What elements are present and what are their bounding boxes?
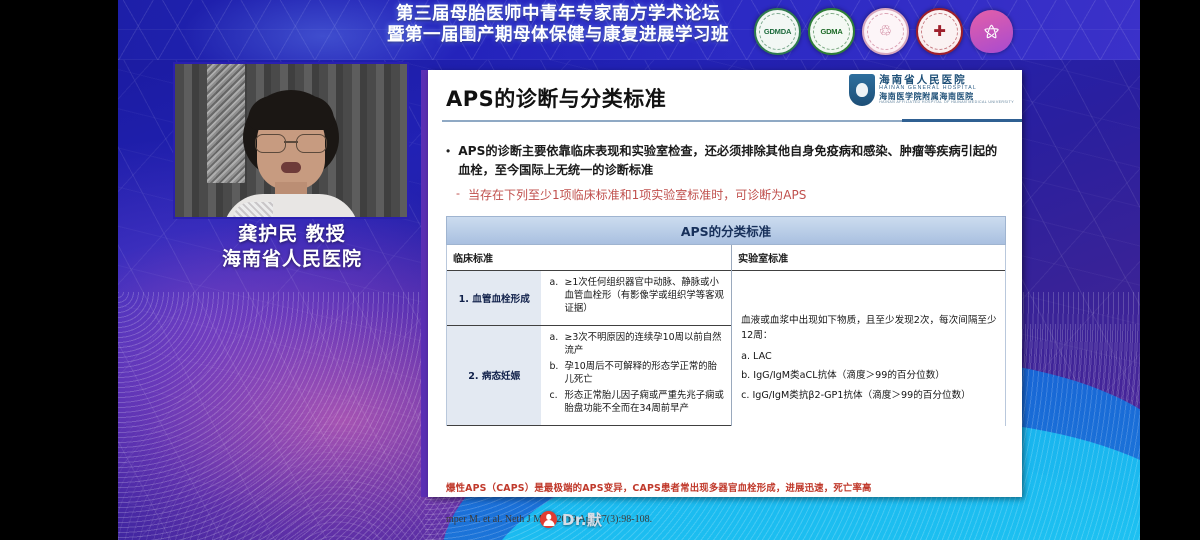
table-row: 2. 病态妊娠 a. ≥3次不明原因的连续孕10周以前自然流产 b. 孕10周后… (447, 326, 731, 426)
dash-marker-icon: - (456, 186, 460, 204)
hospital-logo: 海南省人民医院 HAINAN GENERAL HOSPITAL 海南医学院附属海… (849, 74, 1014, 106)
organizer-logos: GDMDA GDMA ♲ ✚ ⚝ (754, 8, 1013, 55)
maternity-logo: ♲ (862, 8, 909, 55)
table-grid: 临床标准 1. 血管血栓形成 a. ≥1次任何组织器官中动脉、静脉或小血管血栓形… (446, 245, 1006, 426)
laboratory-column-header: 实验室标准 (732, 245, 1005, 271)
maternity-icon: ♲ (879, 24, 892, 39)
presentation-slide: APS的诊断与分类标准 海南省人民医院 HAINAN GENERAL HOSPI… (428, 70, 1022, 497)
classification-table: APS的分类标准 临床标准 1. 血管血栓形成 a. ≥1次任何组织器官中动脉、… (446, 216, 1006, 426)
laboratory-criteria-content: 血液或血浆中出现如下物质，且至少发现2次，每次间隔至少12周： a. LAC b… (732, 271, 1005, 452)
slide-warning-note: 爆性APS（CAPS）是最极端的APS变异，CAPS患者常出现多器官血栓形成，进… (446, 480, 1008, 494)
list-item: a. ≥1次任何组织器官中动脉、静脉或小血管血栓形（有影像学或组织学等客观证据） (549, 277, 725, 316)
bullet-secondary: - 当存在下列至少1项临床标准和1项实验室标准时，可诊断为APS (446, 186, 1006, 204)
item-key: a. (549, 277, 559, 316)
item-key: c. (549, 390, 559, 416)
list-item: c. 形态正常胎儿因子痫或严重先兆子痫或胎盘功能不全而在34周前早产 (549, 390, 725, 416)
item-text: 孕10周后不可解释的形态学正常的胎儿死亡 (564, 361, 725, 387)
bullet-primary-text: APS的诊断主要依靠临床表现和实验室检查，还必须排除其他自身免疫病和感染、肿瘤等… (458, 142, 1006, 179)
row-items: a. ≥3次不明原因的连续孕10周以前自然流产 b. 孕10周后不可解释的形态学… (541, 326, 731, 425)
hospital-shield-icon (849, 74, 875, 106)
speaker-mouth (281, 162, 301, 173)
row-items: a. ≥1次任何组织器官中动脉、静脉或小血管血栓形（有影像学或组织学等客观证据） (541, 271, 731, 325)
gdma-logo-text: GDMA (820, 27, 842, 36)
gdma-logo: GDMA (808, 8, 855, 55)
speaker-affiliation: 海南省人民医院 (152, 247, 432, 272)
bullet-marker-icon: • (446, 142, 450, 179)
event-banner: 第三届母胎医师中青年专家南方学术论坛 暨第一届围产期母体保健与康复进展学习班 G… (118, 0, 1140, 60)
list-item: a. ≥3次不明原因的连续孕10周以前自然流产 (549, 332, 725, 358)
lab-list-item: a. LAC (741, 350, 997, 365)
table-title: APS的分类标准 (446, 216, 1006, 245)
item-text: ≥3次不明原因的连续孕10周以前自然流产 (564, 332, 725, 358)
speaker-caption: 龚护民 教授 海南省人民医院 (152, 222, 432, 273)
bullet-primary: • APS的诊断主要依靠临床表现和实验室检查，还必须排除其他自身免疫病和感染、肿… (446, 142, 1006, 179)
stream-watermark: Dr.默 (540, 509, 602, 530)
table-row: 1. 血管血栓形成 a. ≥1次任何组织器官中动脉、静脉或小血管血栓形（有影像学… (447, 271, 731, 326)
video-curtain (207, 64, 244, 183)
lab-list-item: b. IgG/IgM类aCL抗体（滴度＞99的百分位数） (741, 369, 997, 384)
laboratory-criteria-column: 实验室标准 血液或血浆中出现如下物质，且至少发现2次，每次间隔至少12周： a.… (732, 245, 1005, 426)
shirt-pattern (233, 202, 273, 217)
item-text: ≥1次任何组织器官中动脉、静脉或小血管血栓形（有影像学或组织学等客观证据） (564, 277, 725, 316)
red-cross-logo: ✚ (916, 8, 963, 55)
speaker-video-feed (175, 64, 407, 217)
watermark-avatar-icon (540, 511, 557, 528)
slide-left-accent-bar (421, 70, 428, 497)
speaker-fringe (248, 96, 334, 130)
clinical-criteria-column: 临床标准 1. 血管血栓形成 a. ≥1次任何组织器官中动脉、静脉或小血管血栓形… (447, 245, 732, 426)
row-label: 2. 病态妊娠 (447, 326, 541, 425)
letterbox-left (0, 0, 118, 540)
screen: 第三届母胎医师中青年专家南方学术论坛 暨第一届围产期母体保健与康复进展学习班 G… (0, 0, 1200, 540)
gdmda-logo-text: GDMDA (764, 27, 791, 36)
hospital-text-block: 海南省人民医院 HAINAN GENERAL HOSPITAL 海南医学院附属海… (879, 75, 1014, 105)
mother-child-logo: ⚝ (970, 10, 1013, 53)
mother-child-icon: ⚝ (984, 24, 999, 39)
letterbox-right (1140, 0, 1200, 540)
item-key: b. (549, 361, 559, 387)
item-key: a. (549, 332, 559, 358)
glasses-icon (255, 134, 327, 151)
hospital-sub-en: HAINAN AFFILIATED HOSPITAL OF HAINAN MED… (879, 101, 1014, 105)
watermark-text: Dr.默 (562, 509, 602, 530)
gdmda-logo: GDMDA (754, 8, 801, 55)
row-label: 1. 血管血栓形成 (447, 271, 541, 325)
list-item: b. 孕10周后不可解释的形态学正常的胎儿死亡 (549, 361, 725, 387)
cross-icon: ✚ (933, 24, 946, 39)
slide-header: APS的诊断与分类标准 海南省人民医院 HAINAN GENERAL HOSPI… (428, 70, 1022, 122)
item-text: 形态正常胎儿因子痫或严重先兆子痫或胎盘功能不全而在34周前早产 (564, 390, 725, 416)
speaker-name: 龚护民 教授 (152, 222, 432, 247)
slide-title: APS的诊断与分类标准 (446, 83, 666, 113)
bullet-secondary-text: 当存在下列至少1项临床标准和1项实验室标准时，可诊断为APS (468, 186, 806, 204)
clinical-column-header: 临床标准 (447, 245, 731, 271)
lab-list-item: c. IgG/IgM类抗β2-GP1抗体（滴度＞99的百分位数） (741, 389, 997, 404)
lab-intro-text: 血液或血浆中出现如下物质，且至少发现2次，每次间隔至少12周： (741, 314, 997, 344)
hospital-name-en: HAINAN GENERAL HOSPITAL (879, 86, 1014, 91)
slide-body: • APS的诊断主要依靠临床表现和实验室检查，还必须排除其他自身免疫病和感染、肿… (428, 122, 1022, 497)
